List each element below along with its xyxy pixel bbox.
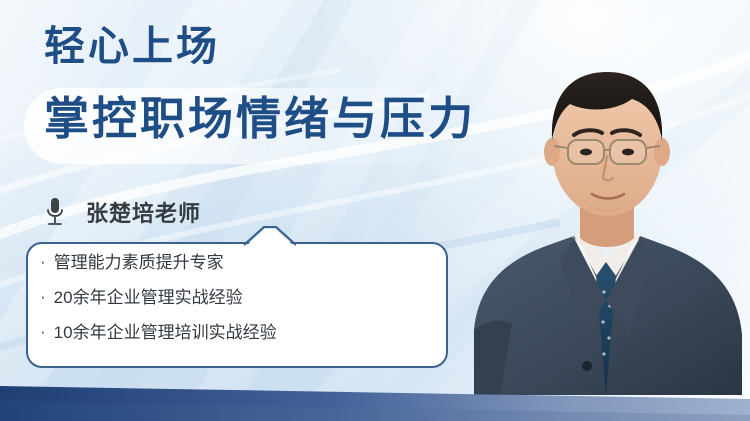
- bottom-accent-band: [0, 375, 750, 421]
- list-item-text: 10余年企业管理培训实战经验: [54, 324, 277, 341]
- course-promo-poster: 轻心上场 掌控职场情绪与压力 张楚培老师 · 管理能力素质提升专家 · 2: [0, 0, 750, 421]
- bullet-icon: ·: [40, 323, 46, 340]
- list-item-text: 20余年企业管理实战经验: [54, 289, 243, 306]
- microphone-icon: [46, 197, 64, 227]
- speaker-portrait: [456, 0, 750, 395]
- list-item: · 10余年企业管理培训实战经验: [40, 324, 440, 341]
- list-item-text: 管理能力素质提升专家: [54, 254, 224, 271]
- bubble-pointer-icon: [244, 224, 296, 246]
- bullet-icon: ·: [40, 253, 46, 270]
- poster-title-line-2: 掌控职场情绪与压力: [44, 96, 476, 141]
- speaker-name: 张楚培老师: [86, 196, 201, 228]
- bullet-icon: ·: [40, 288, 46, 305]
- credentials-list: · 管理能力素质提升专家 · 20余年企业管理实战经验 · 10余年企业管理培训…: [40, 254, 440, 359]
- list-item: · 管理能力素质提升专家: [40, 254, 440, 271]
- speaker-row: 张楚培老师: [46, 196, 201, 228]
- list-item: · 20余年企业管理实战经验: [40, 289, 440, 306]
- poster-title-line-1: 轻心上场: [44, 26, 220, 67]
